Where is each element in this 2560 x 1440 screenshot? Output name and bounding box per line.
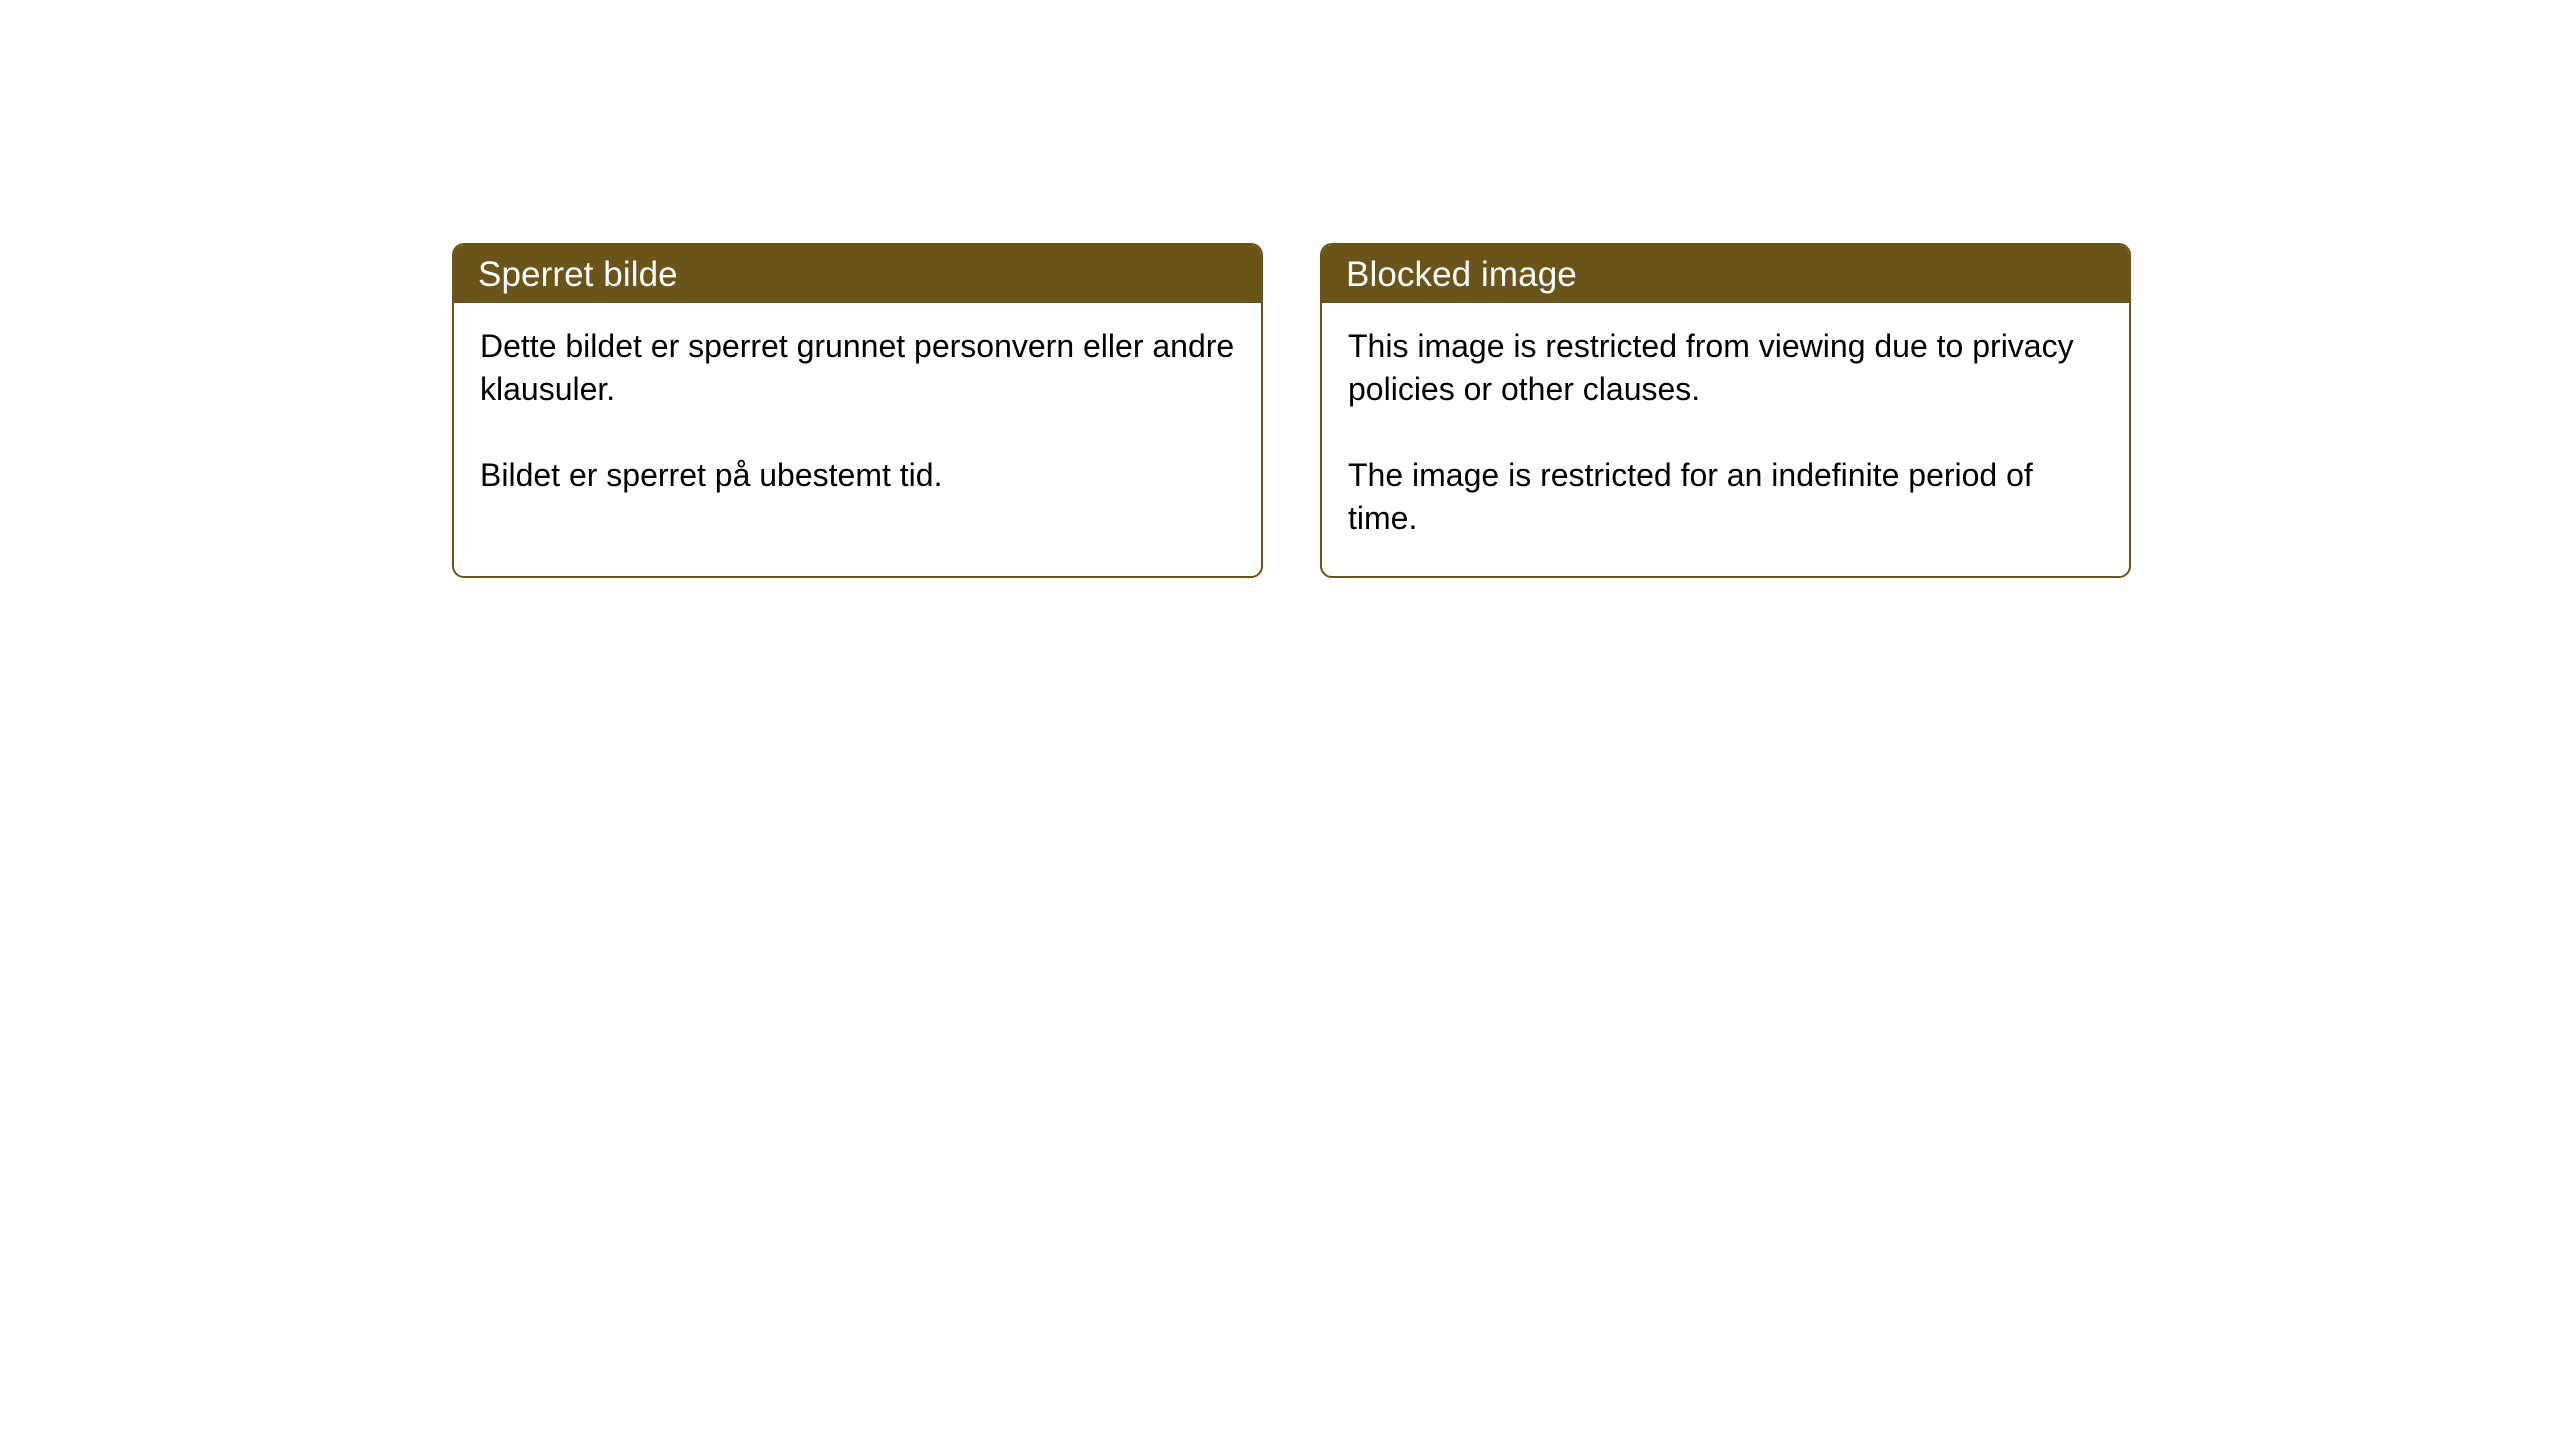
card-paragraph-duration-english: The image is restricted for an indefinit… [1348, 454, 2103, 540]
blocked-image-notices: Sperret bilde Dette bildet er sperret gr… [0, 0, 2560, 1440]
blocked-image-card-norwegian: Sperret bilde Dette bildet er sperret gr… [452, 243, 1263, 578]
card-header-english: Blocked image [1322, 245, 2129, 303]
blocked-image-card-english: Blocked image This image is restricted f… [1320, 243, 2131, 578]
card-title-english: Blocked image [1346, 257, 1577, 292]
card-header-norwegian: Sperret bilde [454, 245, 1261, 303]
card-title-norwegian: Sperret bilde [478, 257, 678, 292]
card-paragraph-reason-norwegian: Dette bildet er sperret grunnet personve… [480, 325, 1235, 411]
card-paragraph-reason-english: This image is restricted from viewing du… [1348, 325, 2103, 411]
card-body-norwegian: Dette bildet er sperret grunnet personve… [454, 303, 1261, 576]
card-body-english: This image is restricted from viewing du… [1322, 303, 2129, 576]
card-paragraph-duration-norwegian: Bildet er sperret på ubestemt tid. [480, 454, 1235, 497]
